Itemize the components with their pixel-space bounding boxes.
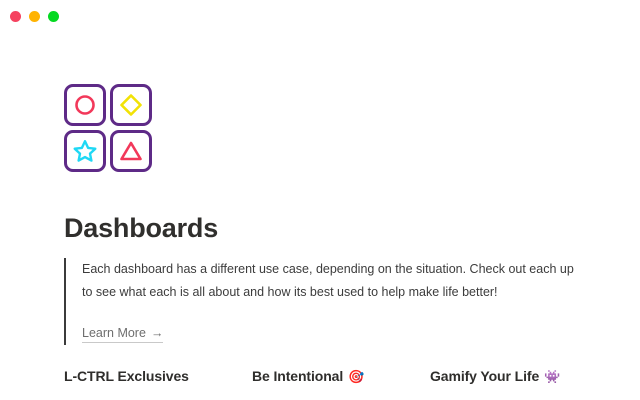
section-heading-label: Gamify Your Life: [430, 368, 539, 384]
section-heading-row: L-CTRL Exclusives Be Intentional 🎯 Gamif…: [64, 368, 616, 384]
page-content: Dashboards Each dashboard has a differen…: [0, 84, 640, 345]
dashboard-icon-grid: [64, 84, 152, 172]
icon-tile-triangle[interactable]: [110, 130, 152, 172]
page-title: Dashboards: [64, 214, 576, 244]
icon-tile-star[interactable]: [64, 130, 106, 172]
hero-quote-block: Each dashboard has a different use case,…: [64, 258, 576, 345]
app-window: Dashboards Each dashboard has a differen…: [0, 0, 640, 400]
icon-tile-circle[interactable]: [64, 84, 106, 126]
arrow-right-icon: →: [151, 326, 164, 340]
star-icon: [73, 139, 97, 163]
close-window-button[interactable]: [10, 11, 21, 22]
circle-icon: [74, 94, 96, 116]
alien-monster-icon: 👾: [544, 370, 560, 383]
learn-more-row: Learn More→: [82, 324, 576, 343]
learn-more-label: Learn More: [82, 326, 146, 340]
maximize-window-button[interactable]: [48, 11, 59, 22]
triangle-icon: [119, 140, 143, 162]
minimize-window-button[interactable]: [29, 11, 40, 22]
window-titlebar: [0, 0, 640, 32]
learn-more-link[interactable]: Learn More→: [82, 326, 163, 343]
diamond-icon: [119, 93, 143, 117]
section-heading-gamify[interactable]: Gamify Your Life 👾: [430, 368, 610, 384]
dart-target-icon: 🎯: [348, 370, 364, 383]
section-heading-label: L-CTRL Exclusives: [64, 368, 189, 384]
section-heading-exclusives[interactable]: L-CTRL Exclusives: [64, 368, 252, 384]
traffic-light-controls: [10, 11, 59, 22]
section-heading-label: Be Intentional: [252, 368, 343, 384]
icon-tile-diamond[interactable]: [110, 84, 152, 126]
section-heading-be-intentional[interactable]: Be Intentional 🎯: [252, 368, 430, 384]
hero-description: Each dashboard has a different use case,…: [82, 258, 576, 304]
